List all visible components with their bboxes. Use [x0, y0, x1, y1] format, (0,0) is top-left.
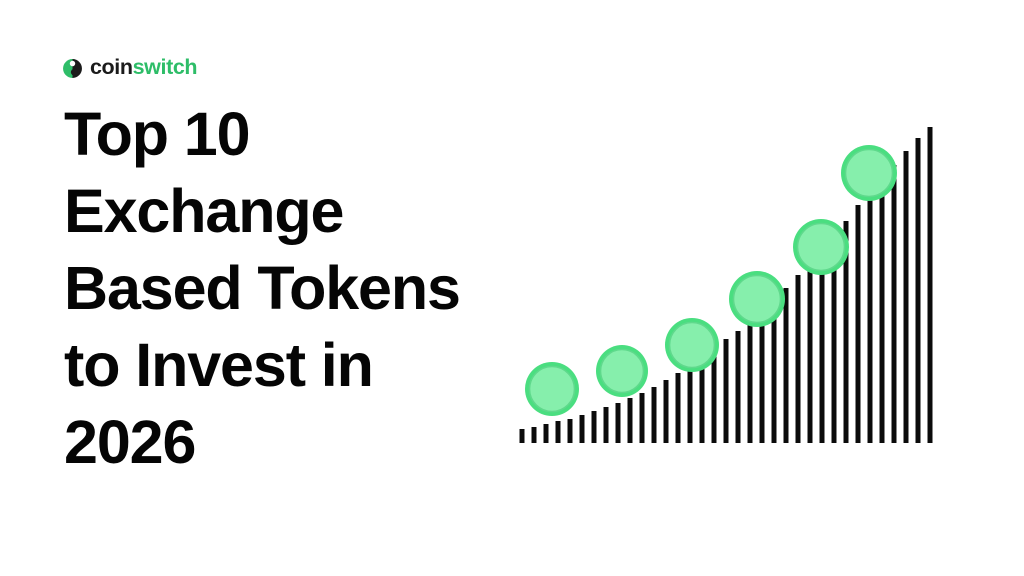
chart-bar — [760, 310, 765, 443]
chart-bar — [616, 403, 621, 443]
slide-canvas: coinswitch Top 10 Exchange Based Tokens … — [0, 0, 1024, 576]
chart-bar — [724, 339, 729, 443]
chart-bar — [868, 191, 873, 443]
chart-bar — [580, 415, 585, 443]
chart-bar — [820, 251, 825, 443]
coinswitch-wordmark: coinswitch — [90, 57, 197, 79]
coinswitch-mark-icon — [62, 58, 83, 79]
chart-bar — [532, 427, 537, 443]
title-line-4: to Invest in — [64, 327, 484, 404]
title-line-5: 2026 — [64, 404, 484, 481]
chart-bar — [904, 151, 909, 443]
chart-bar — [676, 373, 681, 443]
chart-coin — [665, 318, 719, 372]
chart-coin — [841, 145, 897, 201]
chart-bar — [628, 398, 633, 443]
chart-bar — [652, 387, 657, 443]
coinswitch-logo[interactable]: coinswitch — [62, 56, 197, 80]
growth-chart-illustration — [500, 110, 960, 460]
chart-coin — [793, 219, 849, 275]
wordmark-coin: coin — [90, 55, 133, 79]
chart-coin — [729, 271, 785, 327]
chart-coin — [525, 362, 579, 416]
chart-bar — [592, 411, 597, 443]
chart-bar — [784, 288, 789, 443]
page-title: Top 10 Exchange Based Tokens to Invest i… — [64, 96, 484, 481]
chart-bar — [520, 429, 525, 443]
chart-bar — [568, 419, 573, 443]
chart-bar — [736, 331, 741, 443]
chart-bar — [880, 178, 885, 443]
chart-bar — [544, 424, 549, 443]
title-line-2: Exchange — [64, 173, 484, 250]
chart-bar — [892, 165, 897, 443]
chart-bar — [916, 138, 921, 443]
chart-coin-group — [525, 145, 897, 416]
chart-bar — [688, 365, 693, 443]
wordmark-switch: switch — [133, 55, 198, 79]
chart-bar — [856, 205, 861, 443]
title-line-3: Based Tokens — [64, 250, 484, 327]
chart-bar — [556, 421, 561, 443]
chart-bar — [664, 380, 669, 443]
title-line-1: Top 10 — [64, 96, 484, 173]
chart-bar — [604, 407, 609, 443]
chart-bar — [796, 275, 801, 443]
chart-coin — [596, 345, 648, 397]
chart-bar — [808, 263, 813, 443]
chart-bar — [928, 127, 933, 443]
chart-bar — [640, 393, 645, 443]
chart-bar — [748, 321, 753, 443]
